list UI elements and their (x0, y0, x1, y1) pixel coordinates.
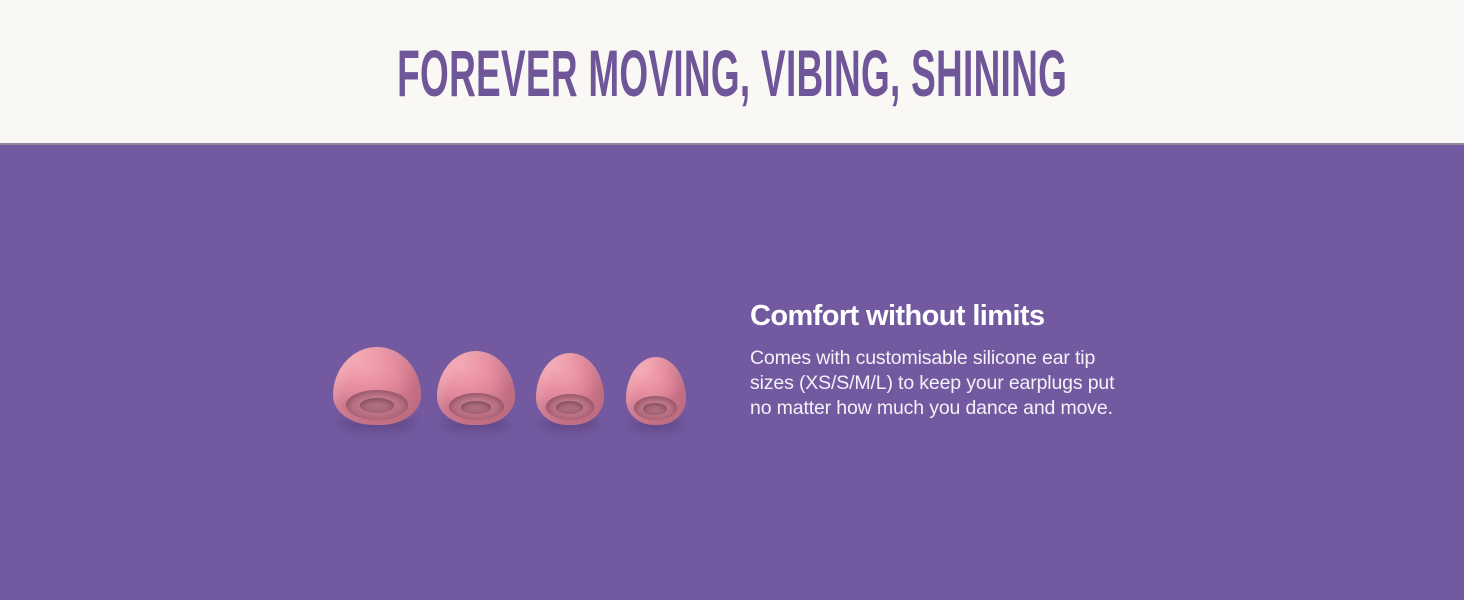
promo-banner: FOREVER MOVING, VIBING, SHINING (0, 0, 1464, 600)
ear-tip-group (300, 315, 720, 425)
feature-heading: Comfort without limits (750, 300, 1130, 332)
ear-tip-bore (643, 403, 667, 415)
feature-text-block: Comfort without limits Comes with custom… (750, 300, 1130, 421)
feature-section: Comfort without limits Comes with custom… (0, 145, 1464, 600)
page-title: FOREVER MOVING, VIBING, SHINING (397, 40, 1067, 106)
ear-tip-bore (556, 401, 583, 414)
ear-tip-large (333, 347, 421, 425)
ear-tip-bore (360, 398, 394, 413)
ear-tip-bore (461, 401, 491, 414)
ear-tip-extra-small (626, 357, 686, 425)
ear-tip-small (536, 353, 604, 425)
ear-tip-medium (437, 351, 515, 425)
headline-band: FOREVER MOVING, VIBING, SHINING (0, 0, 1464, 145)
feature-body-text: Comes with customisable silicone ear tip… (750, 346, 1130, 421)
